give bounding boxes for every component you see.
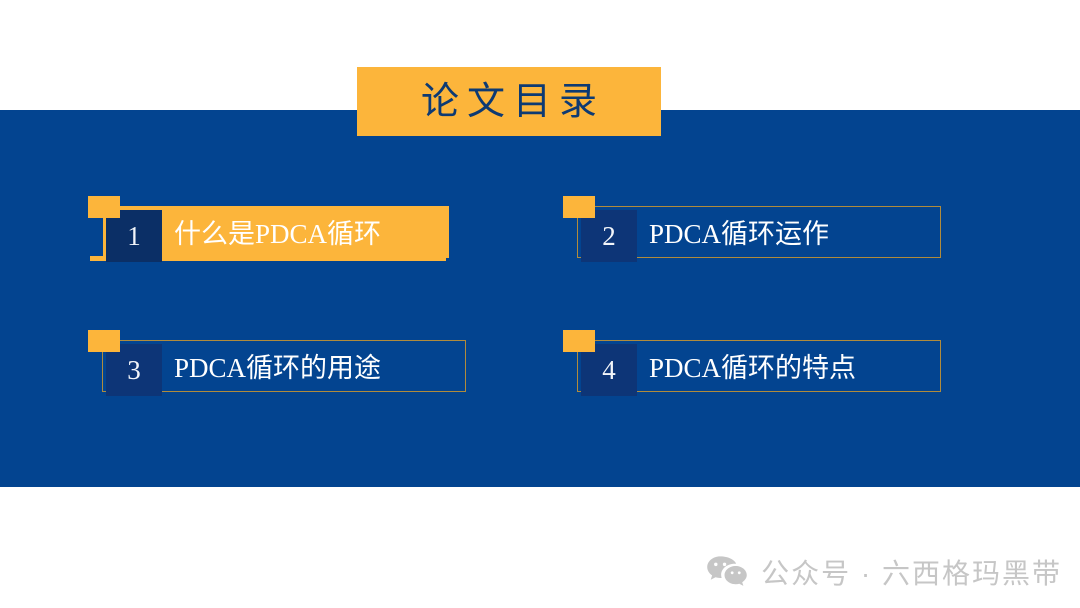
toc-item-1-number: 1 bbox=[127, 223, 141, 250]
corner-tab-icon bbox=[88, 330, 120, 352]
toc-item-1[interactable]: 1 什么是PDCA循环 bbox=[88, 206, 460, 258]
watermark: 公众号 · 六西格玛黑带 bbox=[706, 552, 1062, 592]
toc-item-3-number: 3 bbox=[127, 357, 141, 384]
toc-item-2-label: PDCA循环运作 bbox=[649, 206, 829, 262]
corner-tab-icon bbox=[563, 330, 595, 352]
toc-item-1-label: 什么是PDCA循环 bbox=[174, 206, 381, 262]
slide-canvas: 论文目录 1 什么是PDCA循环 2 PDCA循环运作 3 bbox=[0, 0, 1080, 608]
corner-tab-icon bbox=[563, 196, 595, 218]
corner-tab-icon bbox=[88, 196, 120, 218]
toc-item-4-number: 4 bbox=[602, 357, 616, 384]
page-title: 论文目录 bbox=[413, 83, 605, 121]
toc-item-3[interactable]: 3 PDCA循环的用途 bbox=[88, 340, 460, 392]
toc-item-2-number: 2 bbox=[602, 223, 616, 250]
toc-menu: 1 什么是PDCA循环 2 PDCA循环运作 3 PDCA循环的用途 bbox=[0, 110, 1080, 487]
toc-item-4-label: PDCA循环的特点 bbox=[649, 340, 856, 396]
toc-item-4[interactable]: 4 PDCA循环的特点 bbox=[563, 340, 935, 392]
wechat-icon bbox=[706, 554, 748, 590]
toc-item-3-label: PDCA循环的用途 bbox=[174, 340, 381, 396]
title-banner: 论文目录 bbox=[357, 67, 661, 136]
toc-item-2[interactable]: 2 PDCA循环运作 bbox=[563, 206, 935, 258]
watermark-text: 公众号 · 六西格玛黑带 bbox=[761, 552, 1062, 592]
